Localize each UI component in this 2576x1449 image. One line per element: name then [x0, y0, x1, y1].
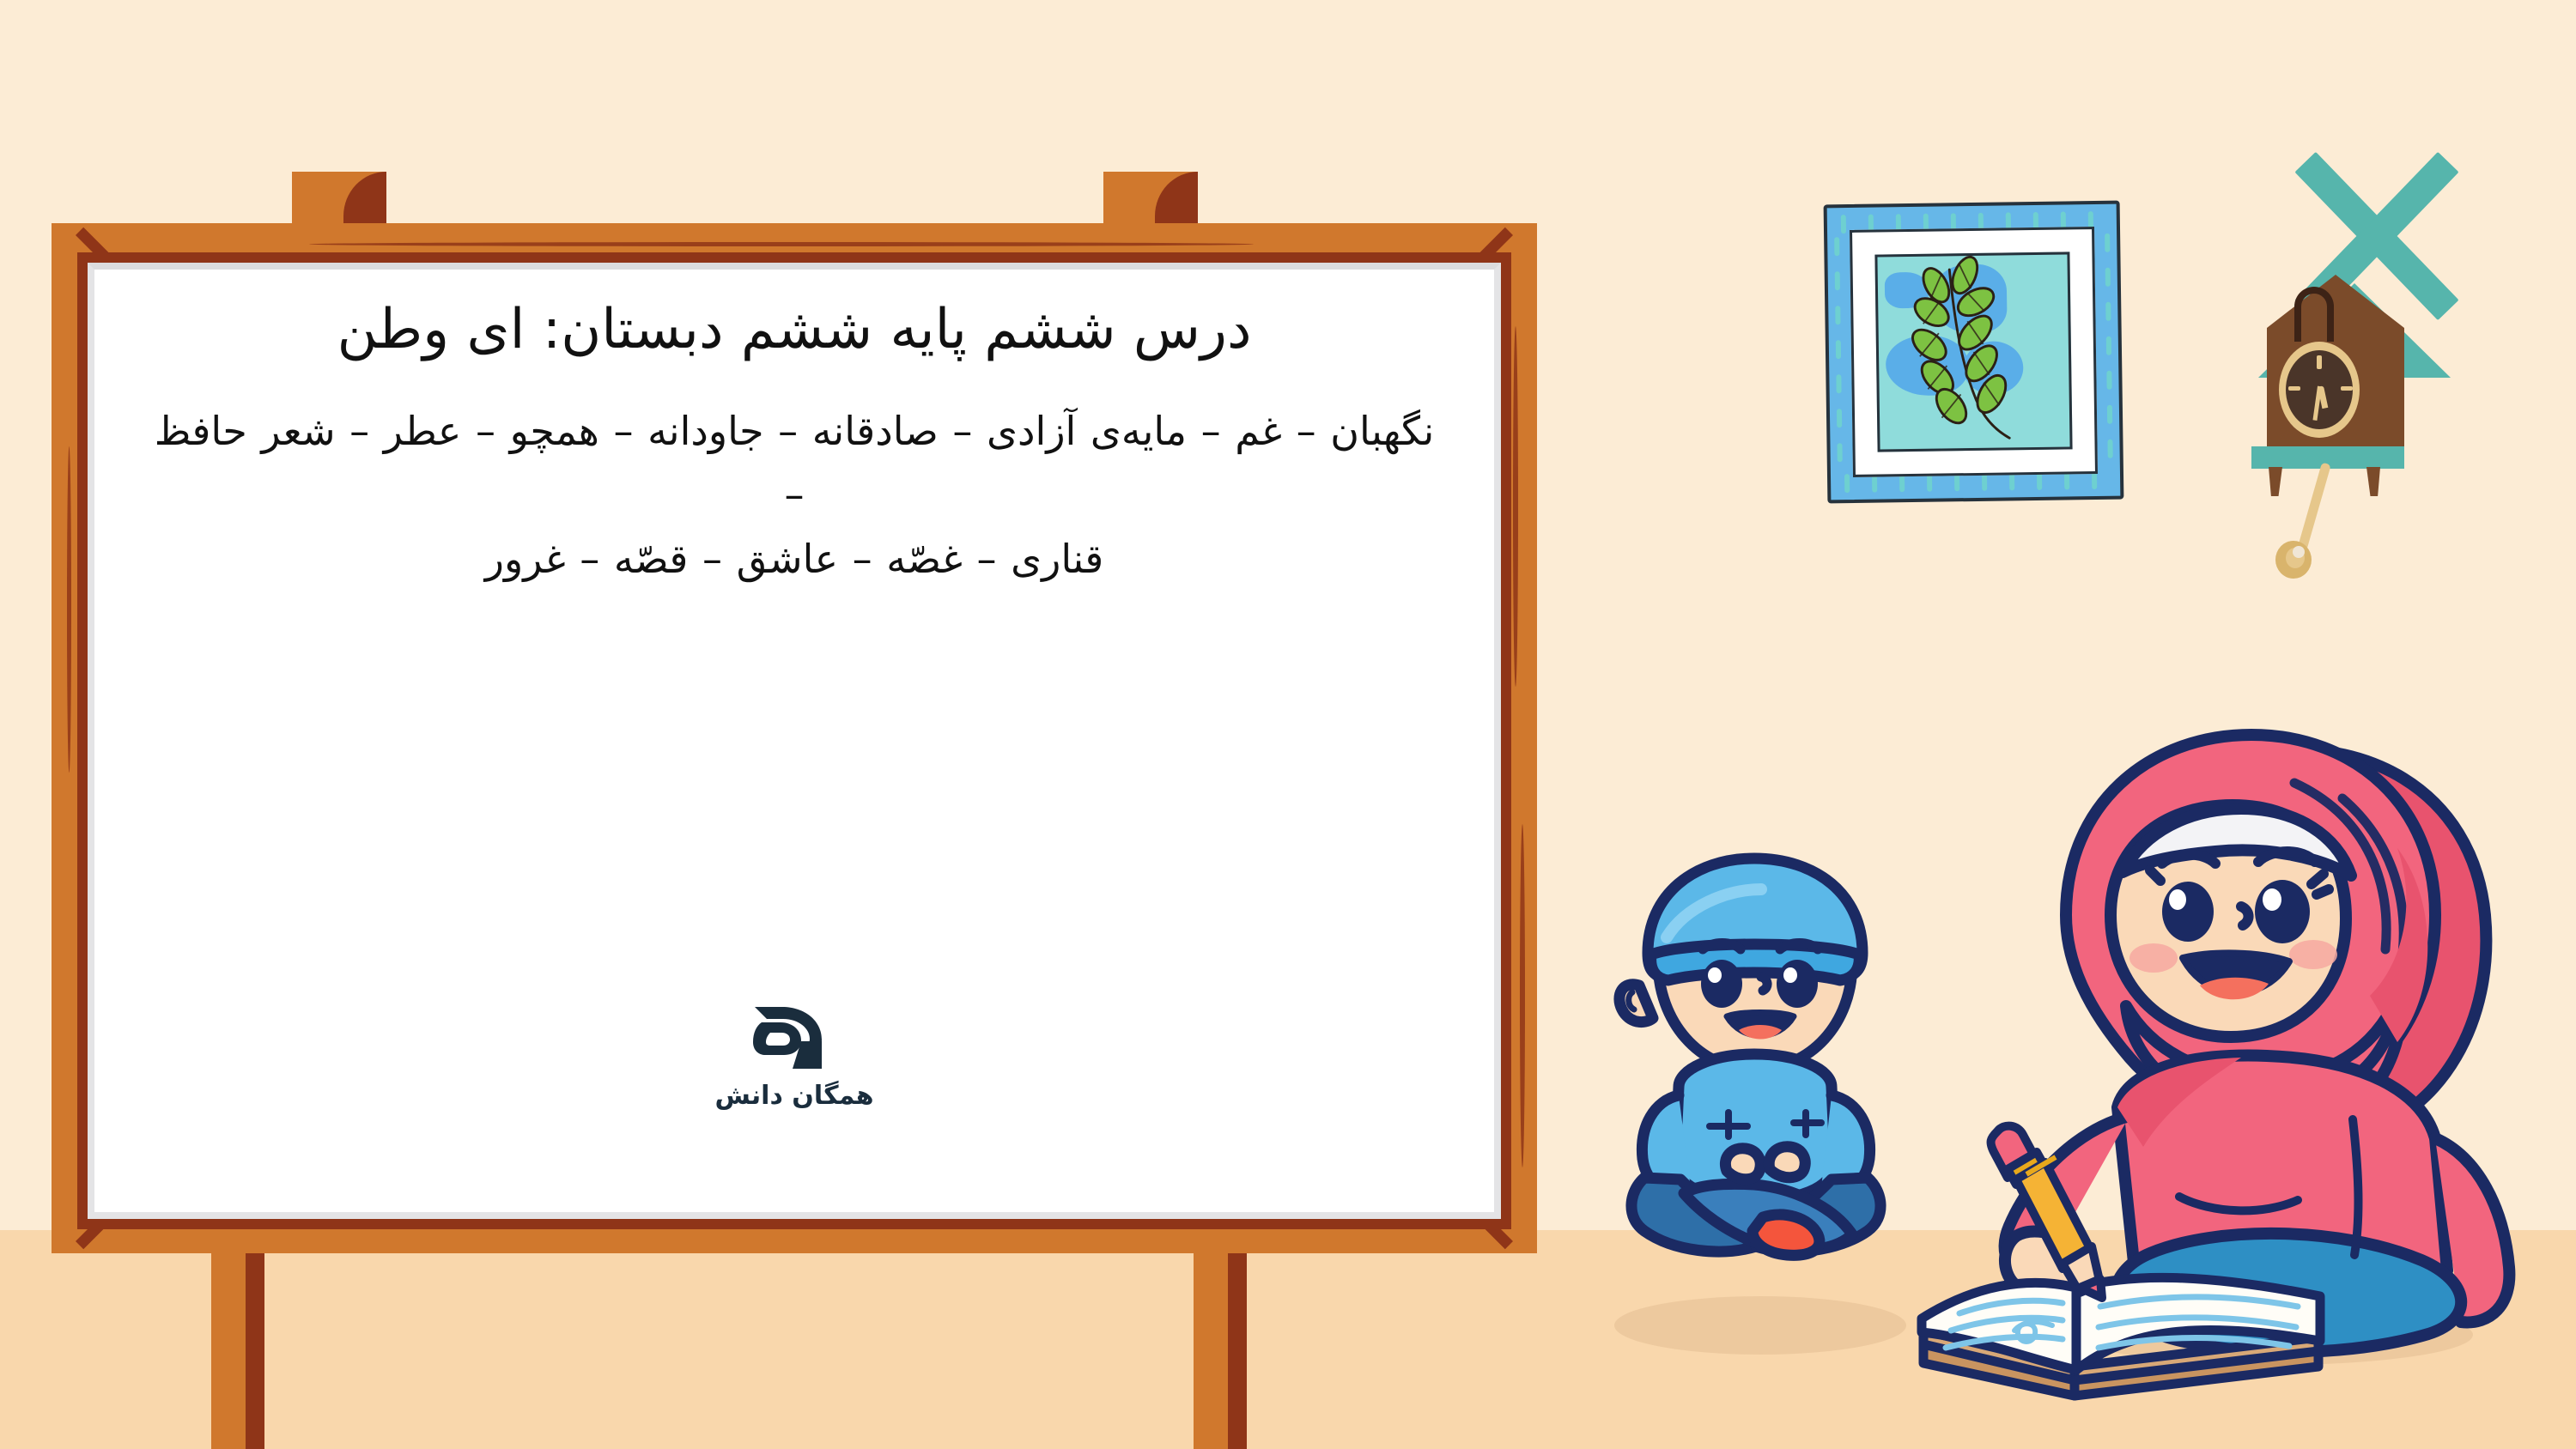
leaf-branch-icon: [1877, 254, 2069, 449]
watermark-brand-text: همگان دانش: [696, 1081, 893, 1111]
wood-grain-streak: [1520, 824, 1525, 1167]
clock-foot: [2269, 467, 2282, 496]
classroom-scene: درس ششم پایه ششم دبستان: ای وطن نگهبان –…: [0, 0, 2576, 1449]
whiteboard-surface[interactable]: درس ششم پایه ششم دبستان: ای وطن نگهبان –…: [88, 263, 1501, 1219]
lesson-title: درس ششم پایه ششم دبستان: ای وطن: [144, 290, 1444, 370]
vocabulary-list: نگهبان – غم – مایه‌ی آزادی – صادقانه – ج…: [144, 399, 1444, 591]
leaf-branch-artwork: [1874, 252, 2072, 452]
watermark: همگان دانش: [696, 1002, 893, 1111]
wood-grain-streak: [309, 242, 1254, 246]
hamegan-danesh-logo-icon: [748, 1002, 841, 1076]
seated-boy-student[interactable]: [1584, 824, 1928, 1408]
board-mount-tab-left: [292, 172, 386, 225]
clock-tick-3: [2341, 386, 2353, 391]
wood-grain-streak: [67, 446, 71, 773]
vocabulary-line-2: قناری – غصّه – عاشق – قصّه – غرور: [144, 527, 1444, 591]
clock-tick-12: [2317, 355, 2322, 369]
whiteboard-leg-left: [211, 1253, 264, 1449]
wall-picture-frame[interactable]: [1824, 201, 2124, 504]
whiteboard-inner-bezel: درس ششم پایه ششم دبستان: ای وطن نگهبان –…: [77, 252, 1511, 1229]
whiteboard[interactable]: درس ششم پایه ششم دبستان: ای وطن نگهبان –…: [52, 172, 1537, 1449]
board-text-block: درس ششم پایه ششم دبستان: ای وطن نگهبان –…: [94, 270, 1494, 591]
pendulum-bob: [2275, 541, 2312, 579]
clock-tick-9: [2288, 386, 2300, 391]
whiteboard-frame: درس ششم پایه ششم دبستان: ای وطن نگهبان –…: [52, 223, 1537, 1253]
vocabulary-line-1: نگهبان – غم – مایه‌ی آزادی – صادقانه – ج…: [144, 399, 1444, 527]
clock-body: [2267, 328, 2404, 448]
cuckoo-clock[interactable]: [2258, 129, 2576, 584]
whiteboard-leg-right: [1194, 1253, 1247, 1449]
pendulum-rod: [2296, 462, 2330, 554]
picture-mat: [1850, 227, 2098, 477]
clock-face: [2279, 342, 2360, 438]
wood-grain-streak: [1513, 326, 1518, 687]
open-notebook[interactable]: [1915, 1116, 2361, 1425]
clock-foot: [2366, 467, 2380, 496]
board-mount-tab-right: [1103, 172, 1198, 225]
cuckoo-door-icon: [2294, 287, 2334, 342]
clock-dial: [2286, 350, 2353, 429]
